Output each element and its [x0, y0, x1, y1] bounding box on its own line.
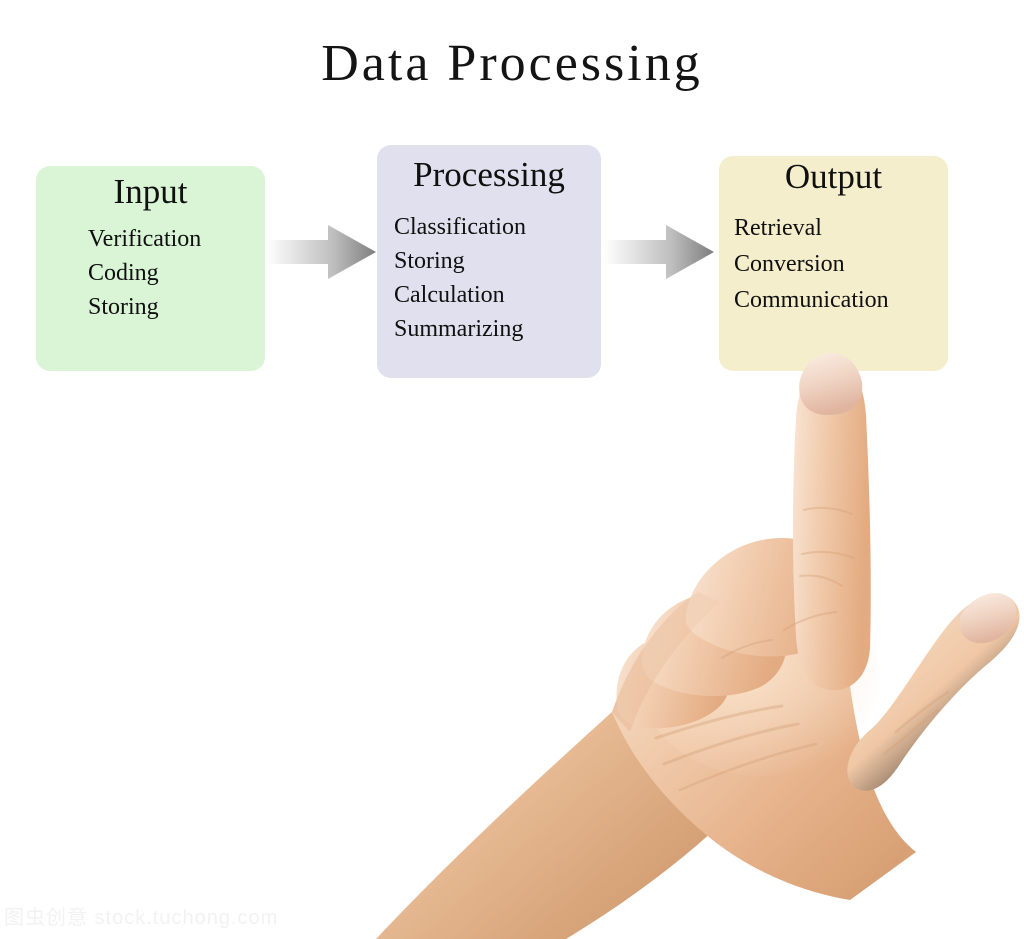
forearm-shape [376, 712, 750, 939]
hand-back-shape [612, 568, 916, 900]
list-item: Summarizing [394, 312, 526, 346]
page-title: Data Processing [0, 34, 1024, 94]
list-item: Classification [394, 210, 526, 244]
stage-heading-output: Output [719, 157, 948, 197]
list-item: Verification [88, 222, 201, 256]
list-item: Calculation [394, 278, 526, 312]
pinky-finger-shape [616, 634, 730, 728]
hand-shading-lines [656, 508, 948, 790]
hand-edge-shadow [612, 592, 720, 732]
stage-box-processing[interactable]: Processing Classification Storing Calcul… [377, 145, 601, 378]
stage-item-list-output: Retrieval Conversion Communication [734, 210, 889, 318]
stage-box-output[interactable]: Output Retrieval Conversion Communicatio… [719, 156, 948, 371]
thumbnail [960, 593, 1017, 643]
pointing-hand-photo [330, 340, 1024, 939]
right-arrow-icon [604, 223, 714, 281]
list-item: Coding [88, 256, 201, 290]
index-finger-shape [793, 362, 871, 690]
thumb-shape [847, 594, 1019, 790]
list-item: Conversion [734, 246, 889, 282]
stage-item-list-processing: Classification Storing Calculation Summa… [394, 210, 526, 346]
stage-heading-processing: Processing [377, 155, 601, 195]
list-item: Communication [734, 282, 889, 318]
stage-heading-input: Input [36, 172, 265, 212]
diagram-canvas: Data Processing Input Verification Codin… [0, 0, 1024, 939]
stage-box-input[interactable]: Input Verification Coding Storing [36, 166, 265, 371]
list-item: Storing [88, 290, 201, 324]
palm-highlight [640, 584, 880, 776]
stage-item-list-input: Verification Coding Storing [88, 222, 201, 324]
middle-finger-shape [686, 538, 849, 656]
list-item: Retrieval [734, 210, 889, 246]
ring-finger-shape [642, 592, 786, 696]
right-arrow-icon [266, 223, 376, 281]
watermark: 图虫创意 stock.tuchong.com [4, 906, 278, 930]
list-item: Storing [394, 244, 526, 278]
